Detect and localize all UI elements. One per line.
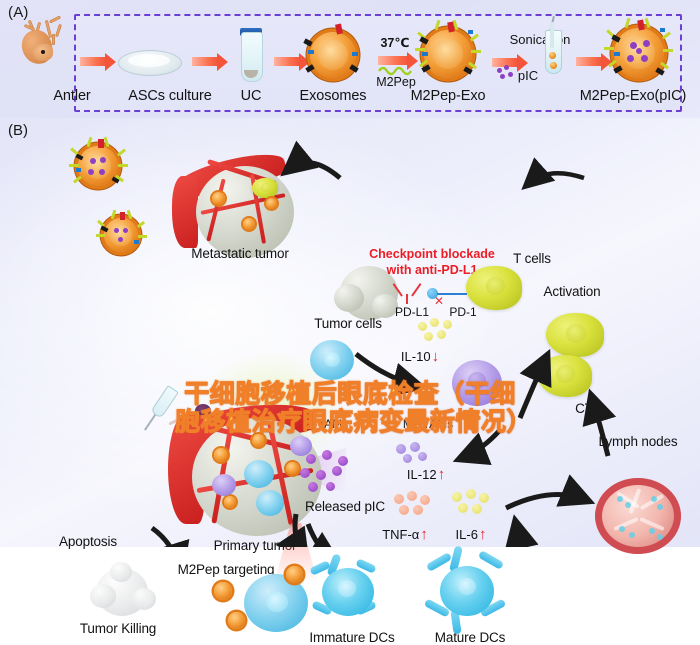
label-tumor-killing: Tumor Killing [80,621,156,636]
label-released-pic: Released pIC [305,499,385,514]
panel-a: (A) Antler ASCs culture UC [0,0,700,118]
cytokine-il10: IL-10↓ [401,348,439,365]
label-immature-dcs: Immature DCs [309,630,394,645]
tube-particle-2 [550,62,557,69]
cytokine-il12-change: ↑ [438,466,446,483]
scientific-figure: (A) Antler ASCs culture UC [0,0,700,547]
label-m2pep-targeting: M2Pep targeting [178,562,275,577]
cytokine-il12-name: IL-12 [407,467,437,482]
process-arrow-2 [192,57,218,66]
label-t-cells: T cells [513,251,551,266]
peptide-label: M2Pep [376,75,416,89]
stage-caption-ascs-culture: ASCs culture [128,88,211,104]
cytokine-il10-change: ↓ [432,348,440,365]
stage-caption-exosomes: Exosomes [300,88,367,104]
label-m1-tams: M1 TAMs [403,417,453,431]
process-arrow-3 [274,57,300,66]
cytokine-il6: IL-6↑ [456,526,487,543]
blockade-x-icon: ✕ [434,295,444,307]
syringe-icon [150,385,179,419]
petri-dish-medium [128,54,170,67]
cytokine-il6-change: ↑ [479,526,487,543]
stage-caption-m2pep-exo: M2Pep-Exo [411,88,486,104]
cytokine-il10-name: IL-10 [401,349,431,364]
process-arrow-1 [80,57,106,66]
cytokine-il12: IL-12↑ [407,466,445,483]
process-arrow-6 [576,57,602,66]
cytokine-tnfa: TNF-α↑ [382,526,428,543]
stage-caption-m2pep-exo-pic: M2Pep-Exo(pIC) [580,88,687,104]
cytokine-il6-name: IL-6 [456,527,478,542]
stage-caption-antler: Antler [53,88,90,104]
panel-a-label: (A) [8,4,29,21]
label-pdl1: PD-L1 [395,305,429,319]
label-mature-dcs: Mature DCs [435,630,506,645]
lymph-node-illustration [595,478,681,554]
sonication-tube-fluid [550,22,554,48]
cytokine-tnfa-change: ↑ [420,526,428,543]
cytokine-tnfa-name: TNF-α [382,527,419,542]
stage-caption-uc: UC [241,88,262,104]
tube-particle-1 [549,52,556,59]
label-lymph-nodes: Lymph nodes [599,434,678,449]
label-ctls: CTLs [575,401,607,416]
temperature-label: 37℃ [380,35,409,50]
label-metastatic-tumor: Metastatic tumor [191,246,288,261]
label-activation: Activation [543,284,600,299]
checkpoint-line-1: Checkpoint blockade [369,247,495,263]
label-primary-tumor: Primary tumor [214,538,297,553]
panel-b-label: (B) [8,122,28,139]
label-tumor-cells: Tumor cells [314,316,382,331]
panel-b: (B) [0,118,700,547]
pic-label: pIC [518,68,538,83]
label-pd1: PD-1 [449,305,476,319]
